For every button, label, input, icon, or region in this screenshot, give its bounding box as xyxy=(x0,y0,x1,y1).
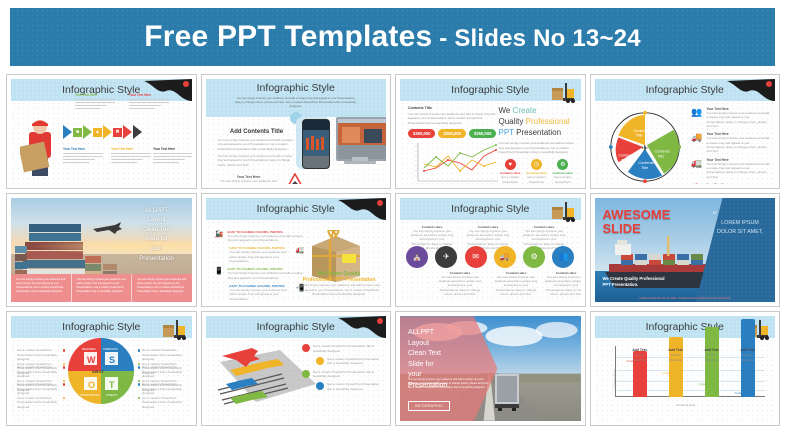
slide-thumbnail-5[interactable]: ALLPPTLayoutClean TextSlide foryourPrese… xyxy=(6,193,197,308)
svg-text:T: T xyxy=(109,380,115,390)
process-circle-row: ⛪ ✈ ✉ 🚚 ⚙ 👥 xyxy=(406,246,575,268)
icon-col-1: ♥ Contents Here Get a modern PowerPoint … xyxy=(499,159,522,183)
process-circle-6: 👥 xyxy=(552,246,574,268)
arrow-process-row: ■ ▲ ✖ xyxy=(63,125,142,139)
slide-6-canvas: Infographic Style 🚂 EASY TO CHANGE COLOR… xyxy=(206,198,387,303)
monitor-device-icon xyxy=(336,117,387,161)
slide-4-title: Infographic Style xyxy=(646,84,724,96)
icon-col-2: ◷ Contents Here Get a modern PowerPoint … xyxy=(525,159,548,183)
bullet: Get a modern PowerPoint Presentation tha… xyxy=(138,379,186,392)
svg-text:Contents: Contents xyxy=(618,154,633,158)
step-icon-2: ■ xyxy=(73,128,82,137)
svg-text:Contents: Contents xyxy=(638,161,653,165)
chevron-3-icon xyxy=(103,125,112,139)
ship-footer-text: LOREM IPSUM DOLOR SIT AMET, CONSECTETUER… xyxy=(595,297,776,300)
slide-2-body: Add Contents Title You can simply impres… xyxy=(218,129,296,167)
svg-text:Contents: Contents xyxy=(633,129,648,133)
process-circle-5: ⚙ xyxy=(523,246,545,268)
step-text-bottom-2: Your Text Here xyxy=(111,147,151,165)
svg-text:Title: Title xyxy=(635,134,642,138)
list-item: 🚛 Your Text HereYou can simply impress y… xyxy=(691,158,771,179)
slide-3-canvas: Infographic Style Contents Title You can… xyxy=(400,79,581,184)
pill-2: $350,000 xyxy=(438,129,465,138)
forklift-icon xyxy=(551,200,577,222)
heart-icon: ♥ xyxy=(505,159,516,170)
chevron-4-icon xyxy=(123,125,132,139)
slide-6-list: 🚂 EASY TO CHANGE COLORS, PHOTOS.You can … xyxy=(214,230,306,301)
list-item: EASY TO CHANGE COLORS, PHOTOS.You can si… xyxy=(214,246,306,263)
marker-item: Get a modern PowerPoint Presentation tha… xyxy=(302,357,382,366)
step-icon-4: ✖ xyxy=(113,128,122,137)
bar-chart: Add TextContents PowerPoint30% Contents … xyxy=(603,342,770,415)
slide-2-subtitle: You can simply impress your audience and… xyxy=(206,94,387,109)
slide-11-canvas: ALLPPTLayoutClean TextSlide foryourPrese… xyxy=(400,316,581,421)
bullet: Get a modern PowerPoint Presentation tha… xyxy=(17,362,65,375)
icon-row: ♥ Contents Here Get a modern PowerPoint … xyxy=(499,159,575,183)
slide-2-caption: Your Text Here You can simply impress yo… xyxy=(218,175,280,184)
bullet: Get a modern PowerPoint Presentation tha… xyxy=(17,348,65,361)
slide-3-title: Infographic Style xyxy=(451,84,529,96)
bar-caption-2: Contents Here xyxy=(663,372,680,375)
slide-4-list: 👥 Your Text HereYou can simply impress y… xyxy=(691,107,771,184)
quote-text: “ LOREM IPSUM DOLOR SIT AMET, xyxy=(713,212,767,238)
page-root: Free PPT Templates - Slides No 13~24 Inf… xyxy=(0,0,786,430)
add-contents-title: Add Contents Title xyxy=(218,129,296,135)
bar-label-1: Add TextContents PowerPoint30% xyxy=(628,348,652,367)
icon-col-3: ⚙ Contents Here Get a modern PowerPoint … xyxy=(551,159,574,183)
slide-10-markers: Get a modern PowerPoint Presentation tha… xyxy=(302,344,382,391)
bar-label-4: Add TextContents PowerPoint80% xyxy=(736,348,760,367)
awesome-slide-heading: AWESOMESLIDE xyxy=(603,208,671,237)
list-item: 👥 Your Text HereYou can simply impress y… xyxy=(691,107,771,128)
bullet: Get a modern PowerPoint Presentation tha… xyxy=(17,396,65,409)
slide-10-canvas: Infographic Style xyxy=(206,316,387,421)
line-chart xyxy=(408,141,500,184)
svg-text:OPPORTUNITIES: OPPORTUNITIES xyxy=(80,394,100,397)
forklift-icon xyxy=(551,81,577,103)
bar-caption-3: Contents Here xyxy=(699,383,716,386)
warning-triangle-icon xyxy=(286,173,304,184)
proc-caption-bot-1: Contents HereYou can simply impress your… xyxy=(438,271,482,297)
truck-icon: 🚛 xyxy=(295,246,306,255)
slide-thumbnail-9[interactable]: Infographic Style xyxy=(6,311,197,426)
slide-7-canvas: Infographic Style Contents HereYou can s… xyxy=(400,198,581,303)
process-circle-2: ✈ xyxy=(435,246,457,268)
value-pills: $350,000 $350,000 $350,000 xyxy=(408,129,500,138)
truck-icon xyxy=(492,372,522,412)
pill-3: $350,000 xyxy=(469,129,496,138)
svg-text:Title: Title xyxy=(657,154,664,158)
step-text-top-1: Your Text Here xyxy=(75,93,115,111)
corner-ribbon-icon xyxy=(719,79,775,109)
step-text-bottom-3: Your Text Here xyxy=(153,147,192,165)
slide-4-canvas: Infographic Style Contents Title xyxy=(595,79,776,184)
chart-title: Contents Title xyxy=(408,106,500,110)
truck-yellow-icon: 🚛 xyxy=(691,158,704,169)
bar-label-3: Add TextContents PowerPoint60% xyxy=(700,348,724,367)
slide-9-title: Infographic Style xyxy=(62,321,140,333)
proc-caption-bot-2: Contents HereYou can simply impress your… xyxy=(494,271,538,297)
slide-7-title: Infographic Style xyxy=(451,203,529,215)
list-item: 🚂 EASY TO CHANGE COLORS, PHOTOS.You can … xyxy=(214,230,306,243)
slide-thumbnail-6[interactable]: Infographic Style 🚂 EASY TO CHANGE COLOR… xyxy=(201,193,392,308)
corner-ribbon-icon xyxy=(330,316,386,346)
slide-thumbnail-1[interactable]: Infographic Style xyxy=(6,74,197,189)
swot-bullets-right-bot: Get a modern PowerPoint Presentation tha… xyxy=(138,362,186,413)
slide-12-canvas: Infographic Style xyxy=(595,316,776,421)
bar-caption-1: Contents Here xyxy=(627,360,644,363)
caption-col-2: You can simply impress your audience and… xyxy=(72,274,133,302)
slide-6-tagline: We Create Quality Professional PPT Prese… xyxy=(298,271,380,296)
bullet: Get a modern PowerPoint Presentation tha… xyxy=(138,348,186,361)
bar-label-2: Add TextContents PowerPoint40% xyxy=(664,348,688,367)
slide-1-canvas: Infographic Style xyxy=(11,79,192,184)
slide-thumbnail-11[interactable]: ALLPPTLayoutClean TextSlide foryourPrese… xyxy=(395,311,586,426)
svg-text:STRENGTHS: STRENGTHS xyxy=(103,348,118,351)
step-text-bottom-1: Your Text Here xyxy=(63,147,103,165)
quote-mark-icon: “ xyxy=(713,212,767,219)
caption-col-3: You can simply impress your audience and… xyxy=(132,274,192,302)
slide-thumbnail-7[interactable]: Infographic Style Contents HereYou can s… xyxy=(395,193,586,308)
slide-3-headline-block: We Create Quality Professional PPT Prese… xyxy=(499,106,575,184)
delivery-man-icon xyxy=(20,116,58,178)
train-icon: 🚂 xyxy=(214,230,225,239)
phone-icon: 📱 xyxy=(214,267,225,276)
infographic-button[interactable]: INFOGRAPHIC xyxy=(408,401,450,411)
phone-device-icon xyxy=(302,119,330,169)
y-axis-label: Contents Here xyxy=(612,369,616,388)
allppt-heading: ALLPPTLayoutClean TextSlide foryourPrese… xyxy=(129,206,185,264)
slide-6-title: Infographic Style xyxy=(257,203,335,215)
slide-2-canvas: Infographic Style You can simply impress… xyxy=(206,79,387,184)
people-icon: 👥 xyxy=(691,107,704,118)
svg-text:✈: ✈ xyxy=(641,143,649,153)
svg-text:Contents: Contents xyxy=(654,150,669,154)
forklift-icon xyxy=(162,318,188,340)
gear-icon: ⚙ xyxy=(557,159,568,170)
slide-thumbnail-12[interactable]: Infographic Style xyxy=(590,311,781,426)
swot-diagram: W S O T SWOT WEAKNESS STRENGTHS OPPORTUN… xyxy=(68,338,134,404)
svg-text:O: O xyxy=(88,380,95,390)
list-item: 🚢 Your Text HereYou can simply impress y… xyxy=(691,183,771,184)
bullet: Get a modern PowerPoint Presentation tha… xyxy=(17,379,65,392)
marker-item: Get a modern PowerPoint Presentation tha… xyxy=(302,382,382,391)
svg-text:WEAKNESS: WEAKNESS xyxy=(82,348,96,351)
slide-thumbnail-2[interactable]: Infographic Style You can simply impress… xyxy=(201,74,392,189)
caption-col-1: You can simply impress your audience and… xyxy=(11,274,72,302)
slide-5-canvas: ALLPPTLayoutClean TextSlide foryourPrese… xyxy=(11,198,192,303)
svg-text:Title: Title xyxy=(621,158,628,162)
banner-title-sub: - Slides No 13~24 xyxy=(432,25,640,52)
page-title: Free PPT Templates - Slides No 13~24 xyxy=(144,20,641,54)
step-text-top-2: Your Text Here xyxy=(129,93,169,111)
chevron-2-icon xyxy=(83,125,92,139)
list-item: 📱 EASY TO CHANGE COLORS, PHOTOS.You can … xyxy=(214,267,306,280)
slide-thumbnail-10[interactable]: Infographic Style xyxy=(201,311,392,426)
monitor-base xyxy=(344,161,376,164)
slide-2-title: Infographic Style xyxy=(206,79,387,94)
we-create-headline: We Create Quality Professional PPT Prese… xyxy=(499,106,575,138)
slide-8-canvas: “ LOREM IPSUM DOLOR SIT AMET, AWESOMESLI… xyxy=(595,198,776,303)
slide-thumbnail-8[interactable]: “ LOREM IPSUM DOLOR SIT AMET, AWESOMESLI… xyxy=(590,193,781,308)
marker-item: Get a modern PowerPoint Presentation tha… xyxy=(302,370,382,379)
corner-ribbon-icon xyxy=(330,198,386,228)
slide-9-canvas: Infographic Style xyxy=(11,316,192,421)
slide-10-title: Infographic Style xyxy=(257,321,335,333)
clock-icon: ◷ xyxy=(531,159,542,170)
header-banner: Free PPT Templates - Slides No 13~24 xyxy=(10,8,775,66)
svg-text:W: W xyxy=(87,355,96,365)
pie-chart: Contents Title Contents Title Contents T… xyxy=(607,109,683,184)
process-circle-4: 🚚 xyxy=(494,246,516,268)
body-paragraph: You can simply impress your audience and… xyxy=(218,138,296,151)
svg-text:THREATS: THREATS xyxy=(106,394,117,397)
svg-text:S: S xyxy=(109,355,115,365)
ship-caption: We Create Quality ProfessionalPPT Presen… xyxy=(603,276,665,289)
caption-bar: You can simply impress your audience and… xyxy=(11,274,192,302)
body-paragraph-2: You can simply impress your audience and… xyxy=(218,154,296,167)
process-circle-1: ⛪ xyxy=(406,246,428,268)
bullet: Get a modern PowerPoint Presentation tha… xyxy=(138,396,186,409)
bar-caption-4: Contents Here xyxy=(735,392,752,395)
list-item: 🚚 Your Text HereYou can simply impress y… xyxy=(691,132,771,153)
marker-item: Get a modern PowerPoint Presentation tha… xyxy=(302,344,382,353)
body-paragraph: You can simply impress your audience and… xyxy=(408,378,490,390)
truck-green-icon: 🚚 xyxy=(691,132,704,143)
pill-1: $350,000 xyxy=(408,129,435,138)
slide-thumbnail-3[interactable]: Infographic Style Contents Title You can… xyxy=(395,74,586,189)
step-icon-3: ▲ xyxy=(93,128,102,137)
list-item: EASY TO CHANGE COLORS, PHOTOS.You can si… xyxy=(214,284,306,301)
x-axis-label: Contents Here xyxy=(603,403,770,407)
swot-bullets-left-bot: Get a modern PowerPoint Presentation tha… xyxy=(17,362,65,413)
containers-photo: ALLPPTLayoutClean TextSlide foryourPrese… xyxy=(11,198,192,303)
banner-title-main: Free PPT Templates xyxy=(144,20,432,53)
svg-text:Title: Title xyxy=(641,166,648,170)
proc-caption-bot-3: Contents HereYou can simply impress your… xyxy=(544,271,581,297)
bullet: Get a modern PowerPoint Presentation tha… xyxy=(138,362,186,375)
chevron-5-icon xyxy=(133,125,142,139)
process-circle-3: ✉ xyxy=(465,246,487,268)
slide-thumbnail-4[interactable]: Infographic Style Contents Title xyxy=(590,74,781,189)
slide-grid: Infographic Style xyxy=(6,74,780,426)
svg-text:SWOT: SWOT xyxy=(92,369,105,374)
airplane-icon xyxy=(91,220,123,236)
chevron-1-icon xyxy=(63,125,72,139)
ship-red-icon: 🚢 xyxy=(691,183,704,184)
slide-3-chart-block: Contents Title You can simply impress yo… xyxy=(408,106,500,184)
